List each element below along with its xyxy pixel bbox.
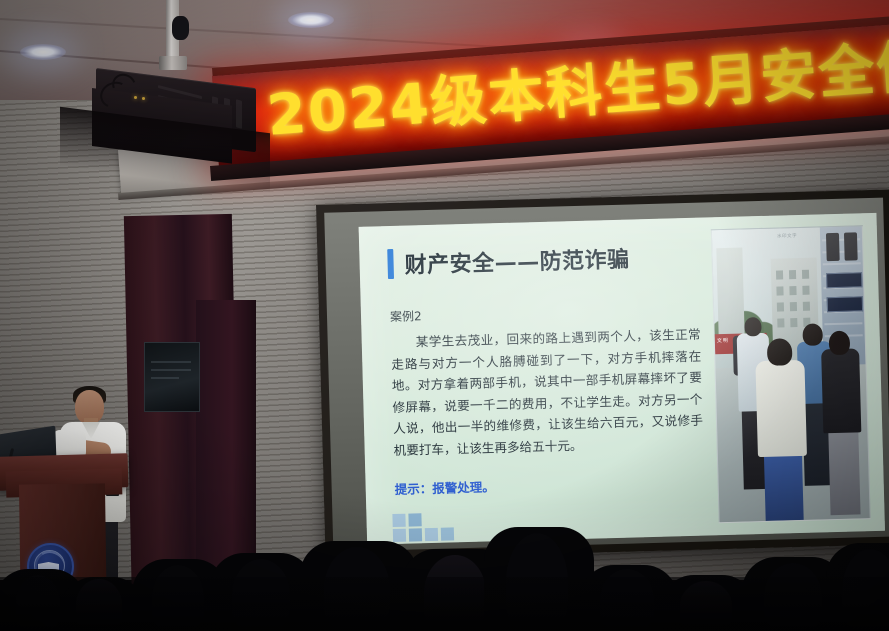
audience-head (680, 581, 732, 631)
slide-decor-squares (392, 512, 467, 540)
slide-title-accent-bar (387, 249, 394, 279)
slide-hint-text: 提示：报警处理。 (394, 476, 494, 498)
downlight-icon (288, 12, 334, 28)
projector-mount-knob (172, 16, 189, 40)
wall-control-panel[interactable] (144, 342, 200, 412)
wall-outlet[interactable] (180, 573, 198, 593)
projection-screen-border: 财产安全——防范诈骗 案例2 某学生去茂业，回来的路上遇到两个人，该生正常走路与… (324, 198, 889, 552)
slide-case-label: 案例2 (390, 300, 700, 325)
slide-body-block: 案例2 某学生去茂业，回来的路上遇到两个人，该生正常走路与对方一个人胳膊碰到了一… (390, 300, 704, 461)
photo-glare (712, 226, 870, 522)
slide-title: 财产安全——防范诈骗 (404, 242, 630, 280)
downlight-icon (20, 44, 66, 60)
slide-photo: 文明 水印文字 (711, 225, 871, 523)
projector-status-led (142, 97, 145, 100)
projection-screen: 财产安全——防范诈骗 案例2 某学生去茂业，回来的路上遇到两个人，该生正常走路与… (316, 189, 889, 559)
slide-body-text: 某学生去茂业，回来的路上遇到两个人，该生正常走路与对方一个人胳膊碰到了一下，对方… (390, 324, 703, 461)
lecture-hall-photo: 2024级本科生5月安全信息 财产安全——防范诈骗 案例2 某学生去茂业，回来的… (0, 0, 889, 631)
projector-mount-cap (159, 56, 187, 70)
university-seal-icon (27, 543, 74, 590)
projector-status-led (134, 96, 137, 99)
presentation-slide: 财产安全——防范诈骗 案例2 某学生去茂业，回来的路上遇到两个人，该生正常走路与… (359, 213, 885, 545)
stage-curtain (196, 300, 256, 630)
slide-title-row: 财产安全——防范诈骗 (387, 242, 630, 281)
